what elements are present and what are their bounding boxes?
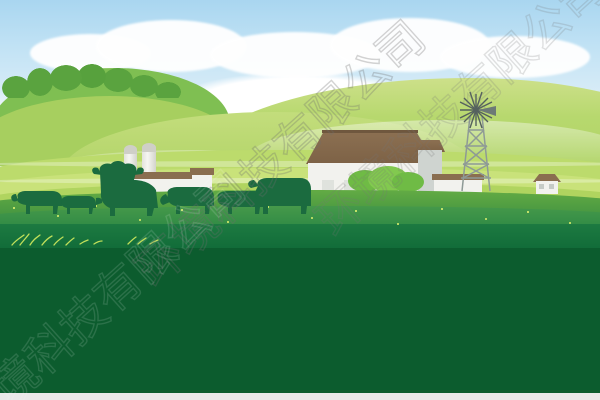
cow-silhouette: [92, 161, 158, 216]
cow-silhouette: [11, 191, 62, 214]
cow-herd-silhouettes: [0, 150, 600, 250]
cow-silhouette: [61, 196, 102, 214]
cloud-shape: [440, 36, 590, 78]
poster-root: 适用于鸡舍、鸡厂、鸭舍、养鸭厂、养猪厂、养牛厂等养殖环境 智慧养殖环境监控系统 …: [0, 0, 600, 400]
barn-roof-ridge: [322, 130, 418, 133]
farm-scene-illustration: [0, 0, 600, 250]
treeline-icon: [0, 62, 224, 98]
cow-silhouette: [160, 187, 214, 214]
title-banner: 适用于鸡舍、鸡厂、鸭舍、养鸭厂、养猪厂、养牛厂等养殖环境 智慧养殖环境监控系统 …: [0, 248, 600, 393]
footer-strip: [0, 393, 600, 400]
